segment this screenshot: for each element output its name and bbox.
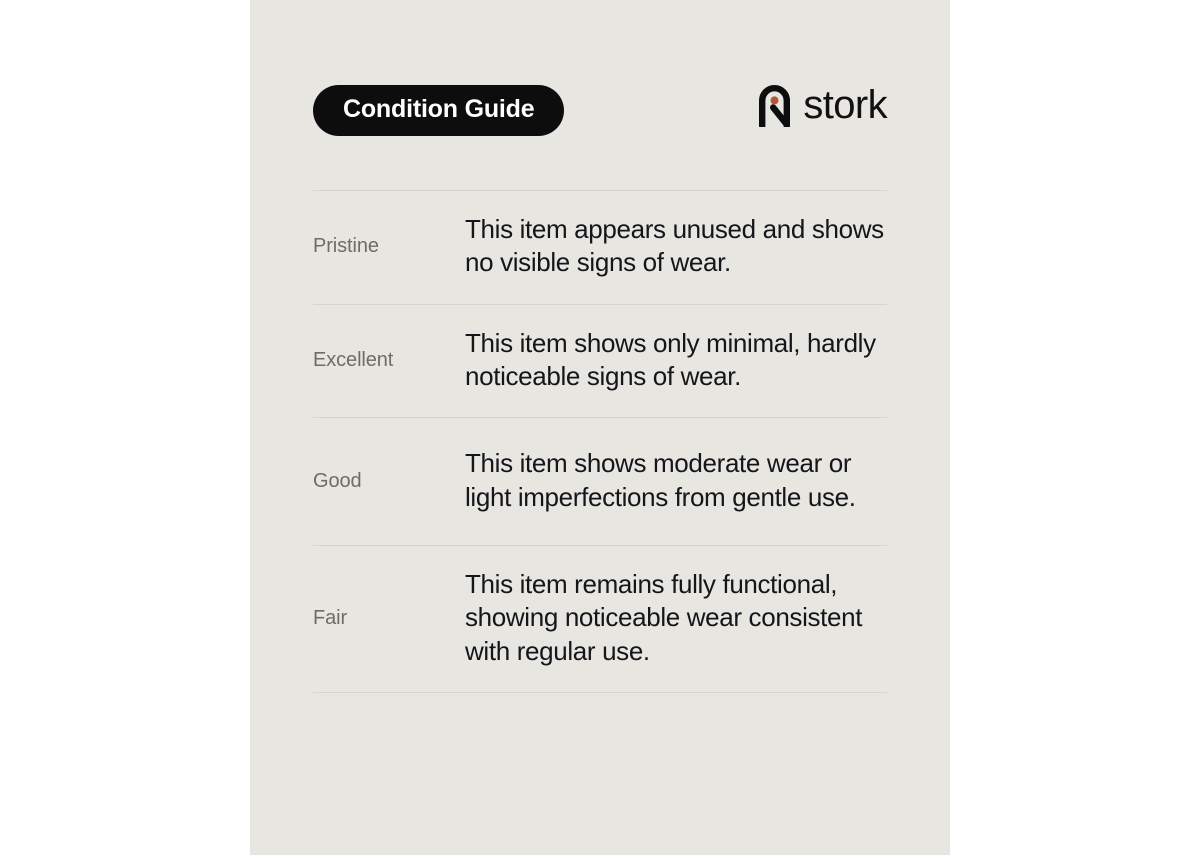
brand-wordmark: stork [803,85,887,125]
condition-description: This item remains fully functional, show… [465,568,885,668]
condition-guide-card: Condition Guide stork P [250,0,950,855]
condition-guide-table: Pristine This item appears unused and sh… [313,190,887,693]
condition-label: Excellent [313,348,465,372]
page-root: Condition Guide stork P [0,0,1200,855]
table-row: Excellent This item shows only minimal, … [313,305,887,418]
table-row: Good This item shows moderate wear or li… [313,418,887,545]
stork-arch-logo-icon [757,83,793,127]
table-row: Pristine This item appears unused and sh… [313,191,887,304]
condition-label: Fair [313,606,465,630]
condition-guide-badge[interactable]: Condition Guide [313,85,564,136]
table-row: Fair This item remains fully functional,… [313,546,887,692]
condition-description: This item shows moderate wear or light i… [465,447,885,514]
condition-label: Pristine [313,234,465,258]
divider-bottom [313,692,887,693]
brand-lockup: stork [757,83,887,127]
condition-description: This item shows only minimal, hardly not… [465,327,885,394]
card-header: Condition Guide stork [313,0,887,190]
condition-description: This item appears unused and shows no vi… [465,213,885,280]
condition-label: Good [313,469,465,493]
